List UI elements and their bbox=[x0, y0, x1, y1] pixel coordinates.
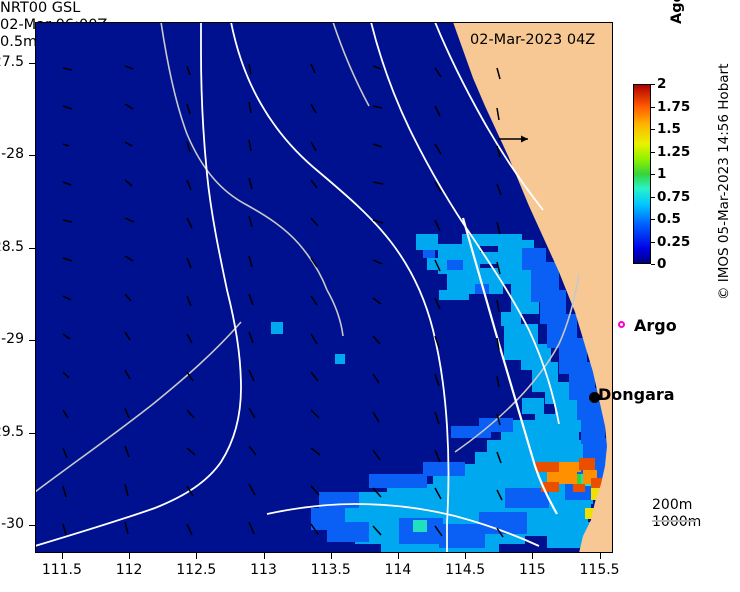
y-tick bbox=[29, 340, 35, 341]
depth-label-200m: 200m bbox=[652, 497, 701, 514]
y-tick-label: -28.5 bbox=[0, 239, 24, 255]
colorbar-tick-label: 2 bbox=[657, 76, 666, 92]
vector-key-product: NRT00 GSL bbox=[0, 0, 740, 17]
depth-rule-1000m bbox=[652, 537, 696, 539]
x-tick-label: 115.5 bbox=[565, 562, 635, 578]
y-tick-label: -30 bbox=[0, 516, 24, 532]
colorbar-tick-label: 0.5 bbox=[657, 211, 681, 227]
map-panel[interactable] bbox=[35, 22, 613, 553]
y-tick-label: -29 bbox=[0, 331, 24, 347]
colorbar-title: Age (days) of filled SST (wrt latest) bbox=[669, 0, 685, 24]
colorbar-tick-label: 1 bbox=[657, 166, 666, 182]
y-tick-label: -27.5 bbox=[0, 54, 24, 70]
east-arrow-icon bbox=[498, 133, 534, 145]
y-tick bbox=[29, 525, 35, 526]
x-tick bbox=[600, 553, 601, 559]
colorbar-tick-label: 0.75 bbox=[657, 189, 690, 205]
colorbar-tick bbox=[651, 174, 655, 175]
x-tick-label: 112 bbox=[94, 562, 164, 578]
x-tick bbox=[129, 553, 130, 559]
y-tick bbox=[29, 63, 35, 64]
colorbar-tick bbox=[651, 264, 655, 265]
x-tick-label: 114.5 bbox=[430, 562, 500, 578]
y-tick bbox=[29, 433, 35, 434]
colorbar[interactable] bbox=[633, 84, 651, 264]
x-tick-label: 115 bbox=[497, 562, 567, 578]
colorbar-tick-label: 1.5 bbox=[657, 121, 681, 137]
x-tick bbox=[196, 553, 197, 559]
y-tick-label: -28 bbox=[0, 146, 24, 162]
argo-label: Argo bbox=[634, 316, 677, 335]
y-tick-label: -29.5 bbox=[0, 424, 24, 440]
x-tick-label: 113.5 bbox=[296, 562, 366, 578]
copyright-notice: © IMOS 05-Mar-2023 14:56 Hobart bbox=[716, 40, 732, 300]
x-tick bbox=[532, 553, 533, 559]
x-tick-label: 112.5 bbox=[161, 562, 231, 578]
colorbar-tick bbox=[651, 107, 655, 108]
colorbar-tick bbox=[651, 242, 655, 243]
argo-marker[interactable] bbox=[618, 321, 625, 328]
x-tick bbox=[331, 553, 332, 559]
colorbar-tick-label: 0.25 bbox=[657, 234, 690, 250]
x-tick-label: 111.5 bbox=[27, 562, 97, 578]
current-vector-field bbox=[35, 22, 613, 553]
depth-rule-200m bbox=[652, 520, 696, 522]
x-tick bbox=[62, 553, 63, 559]
y-tick bbox=[29, 155, 35, 156]
colorbar-tick bbox=[651, 197, 655, 198]
x-tick bbox=[264, 553, 265, 559]
colorbar-gradient bbox=[633, 84, 651, 264]
colorbar-tick bbox=[651, 84, 655, 85]
depth-label-1000m: 1000m bbox=[652, 514, 701, 531]
x-tick-label: 113 bbox=[229, 562, 299, 578]
x-tick bbox=[398, 553, 399, 559]
colorbar-tick bbox=[651, 219, 655, 220]
colorbar-tick bbox=[651, 129, 655, 130]
x-tick-label: 114 bbox=[363, 562, 433, 578]
figure-canvas: 02-Mar-2023 04Z NRT00 GSL 02-Mar 06:00Z … bbox=[0, 0, 740, 592]
colorbar-tick-label: 1.75 bbox=[657, 99, 690, 115]
x-tick bbox=[465, 553, 466, 559]
colorbar-tick bbox=[651, 152, 655, 153]
date-stamp: 02-Mar-2023 04Z bbox=[470, 32, 595, 48]
depth-contour-key: 200m 1000m bbox=[652, 497, 701, 531]
y-tick bbox=[29, 248, 35, 249]
dongara-label: Dongara bbox=[598, 385, 675, 404]
colorbar-tick-label: 1.25 bbox=[657, 144, 690, 160]
colorbar-tick-label: 0 bbox=[657, 256, 666, 272]
